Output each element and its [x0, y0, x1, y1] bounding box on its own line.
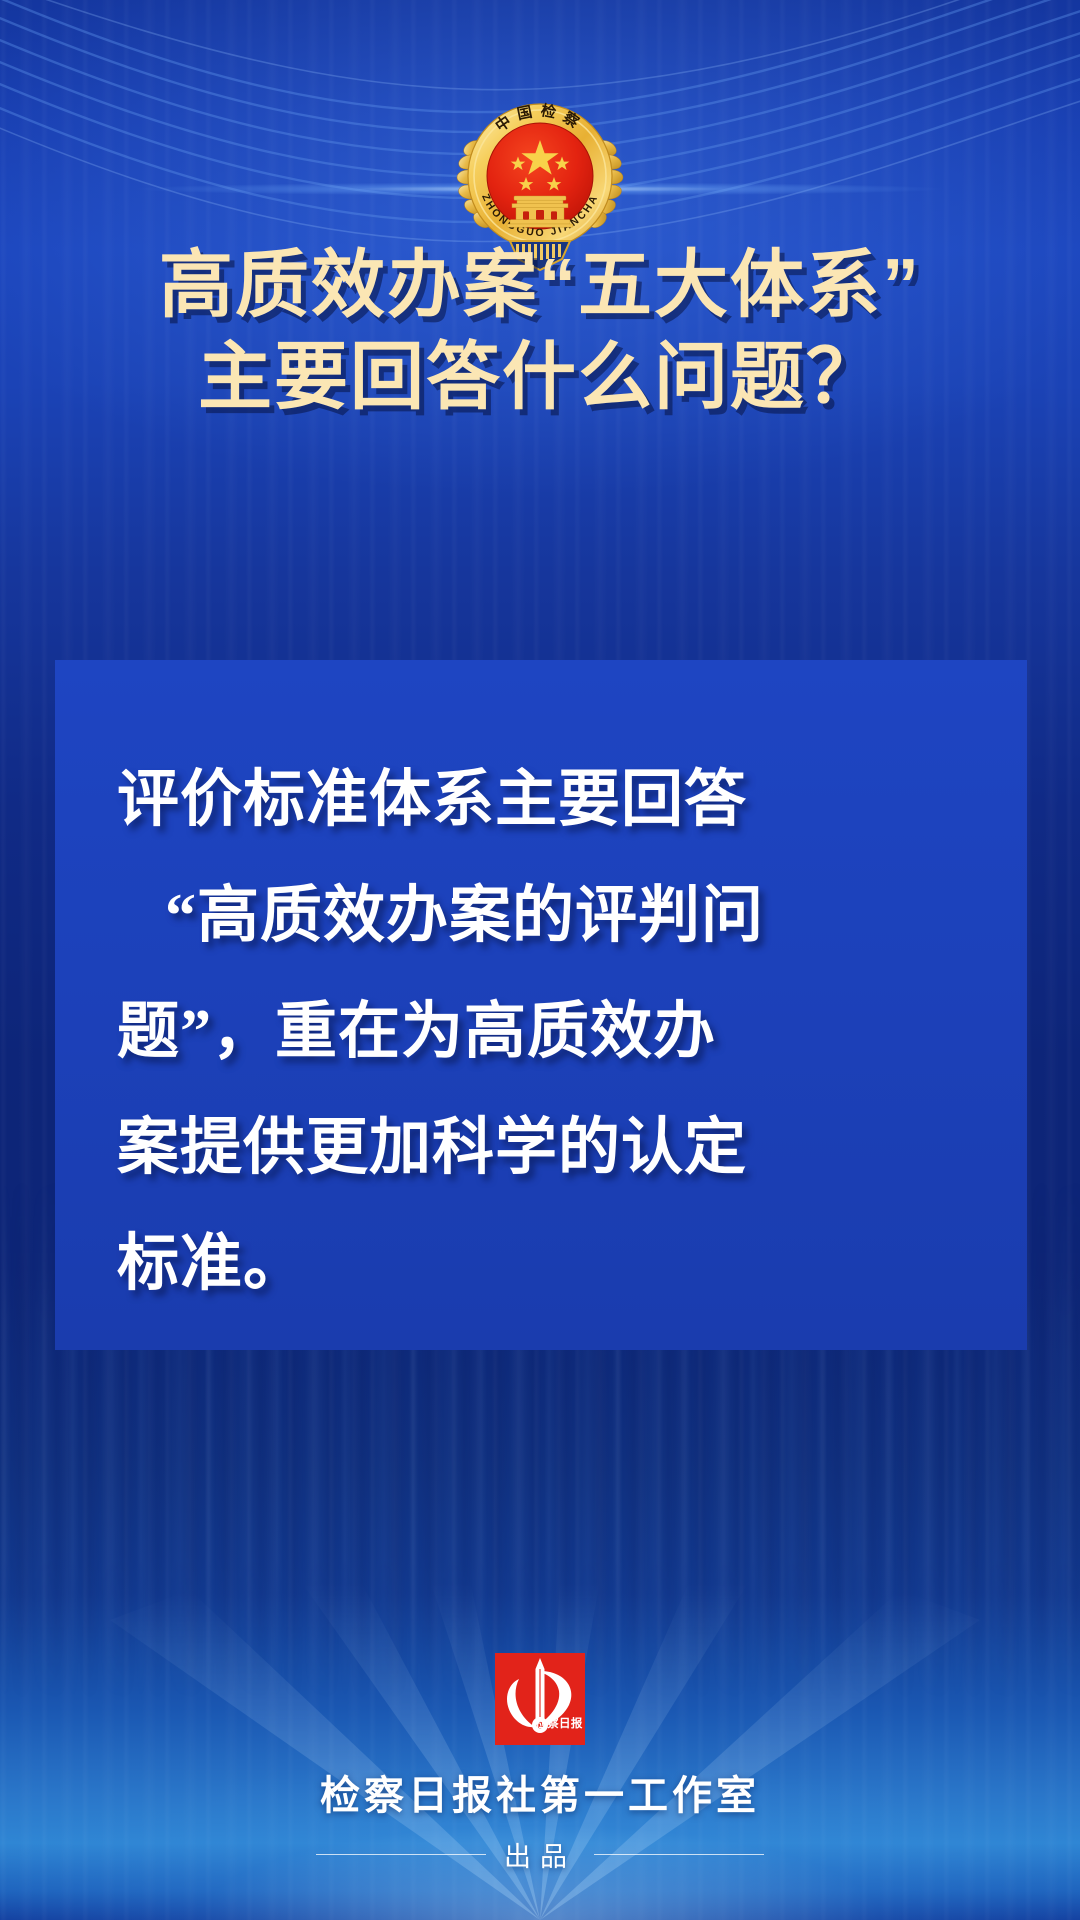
- content-body: 评价标准体系主要回答 “高质效办案的评判问 题”，重在为高质效办 案提供更加科学…: [117, 742, 971, 1322]
- svg-text:检察日报: 检察日报: [535, 1716, 583, 1730]
- footer-subtitle-row: 出品: [0, 1835, 1080, 1874]
- poster-footer: 检察日报 检察日报社第一工作室 出品: [0, 1653, 1080, 1874]
- title-line-2: 主要回答什么问题？: [0, 337, 1080, 417]
- content-line-4: 案提供更加科学的认定: [117, 1090, 971, 1206]
- content-line-2: “高质效办案的评判问: [117, 858, 971, 974]
- content-line-1: 评价标准体系主要回答: [117, 742, 971, 858]
- jiancha-daily-logo-icon: 检察日报: [495, 1653, 585, 1745]
- content-line-3: 题”，重在为高质效办: [117, 974, 971, 1090]
- footer-logo-container: 检察日报: [0, 1653, 1080, 1745]
- title-line-1: 高质效办案“五大体系”: [0, 245, 1080, 325]
- content-panel: 评价标准体系主要回答 “高质效办案的评判问 题”，重在为高质效办 案提供更加科学…: [55, 660, 1027, 1350]
- footer-title: 检察日报社第一工作室: [0, 1763, 1080, 1821]
- poster-root: 中国检察 ZHONGGUO JIANCHA: [0, 0, 1080, 1920]
- poster-title: 高质效办案“五大体系” 主要回答什么问题？: [0, 245, 1080, 417]
- content-line-5: 标准。: [117, 1206, 971, 1322]
- footer-rule-right: [594, 1854, 764, 1855]
- footer-rule-left: [316, 1854, 486, 1855]
- footer-subtitle: 出品: [504, 1835, 576, 1874]
